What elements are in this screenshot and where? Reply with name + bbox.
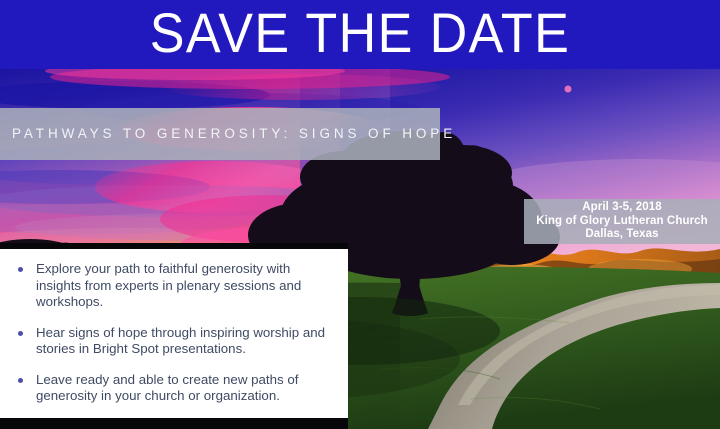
list-item-text: Explore your path to faithful generosity…: [36, 261, 334, 311]
event-details-box: April 3-5, 2018 King of Glory Lutheran C…: [524, 199, 720, 244]
list-item-text: Hear signs of hope through inspiring wor…: [36, 325, 334, 358]
event-location: Dallas, Texas: [524, 228, 720, 242]
list-item: Explore your path to faithful generosity…: [10, 261, 334, 311]
list-item: Leave ready and able to create new paths…: [10, 372, 334, 405]
event-venue: King of Glory Lutheran Church: [524, 215, 720, 229]
highlights-card: Explore your path to faithful generosity…: [0, 249, 348, 418]
bullet-dot-icon: [18, 331, 23, 336]
list-item: Hear signs of hope through inspiring wor…: [10, 325, 334, 358]
header-band: SAVE THE DATE: [0, 0, 720, 69]
event-date: April 3-5, 2018: [524, 201, 720, 215]
list-item-text: Leave ready and able to create new paths…: [36, 372, 334, 405]
bullet-dot-icon: [18, 378, 23, 383]
subtitle-text: PATHWAYS TO GENEROSITY: SIGNS OF HOPE: [12, 108, 434, 160]
bullet-dot-icon: [18, 267, 23, 272]
highlights-list: Explore your path to faithful generosity…: [10, 261, 334, 405]
page-title: SAVE THE DATE: [25, 0, 695, 69]
copy-card-bottom-rule: [0, 418, 348, 429]
subtitle-banner: PATHWAYS TO GENEROSITY: SIGNS OF HOPE: [0, 108, 440, 160]
save-the-date-poster: SAVE THE DATE PATHWAYS TO GENEROSITY: SI…: [0, 0, 720, 429]
